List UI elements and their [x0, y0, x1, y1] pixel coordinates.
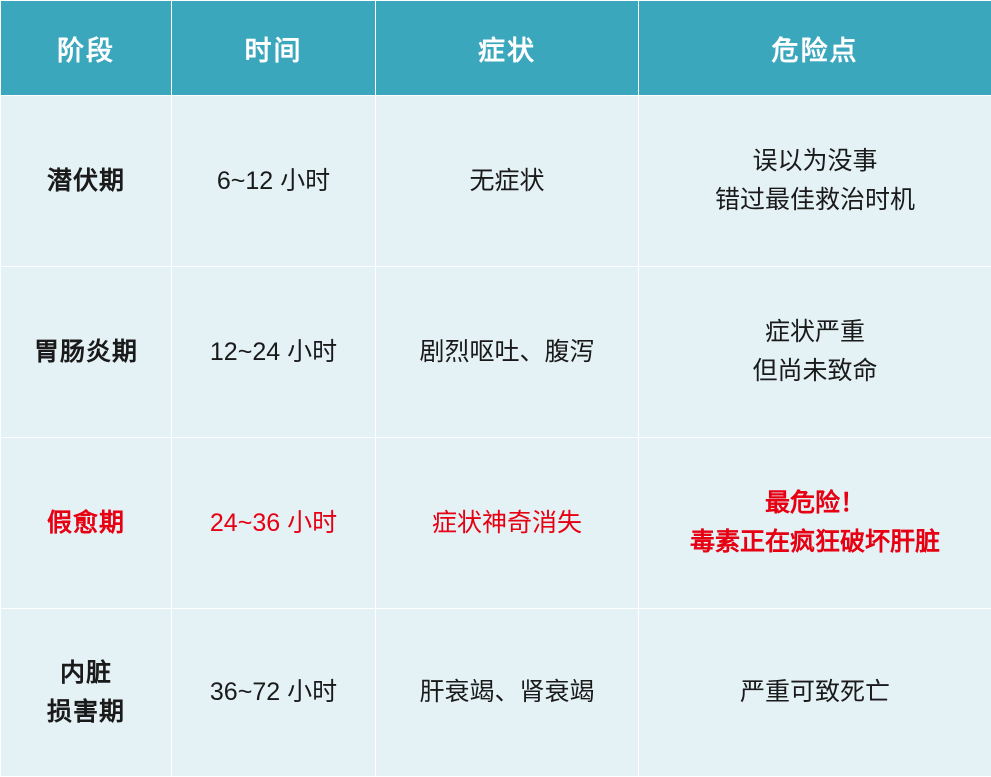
cell-time: 36~72 小时 — [172, 609, 376, 777]
table-body: 潜伏期 6~12 小时 无症状 误以为没事 错过最佳救治时机 胃肠炎期 12~2… — [1, 96, 991, 777]
cell-risk: 症状严重 但尚未致命 — [639, 267, 991, 438]
risk-line: 但尚未致命 — [645, 352, 985, 391]
cell-time: 12~24 小时 — [172, 267, 376, 438]
risk-line: 误以为没事 — [645, 142, 985, 181]
risk-line: 症状严重 — [645, 313, 985, 352]
cell-symptom: 剧烈呕吐、腹泻 — [376, 267, 639, 438]
table-header: 阶段 时间 症状 危险点 — [1, 1, 991, 96]
risk-line: 错过最佳救治时机 — [645, 181, 985, 220]
cell-risk: 最危险！ 毒素正在疯狂破坏肝脏 — [639, 438, 991, 609]
stage-line: 假愈期 — [7, 504, 165, 543]
table-row: 内脏 损害期 36~72 小时 肝衰竭、肾衰竭 严重可致死亡 — [1, 609, 991, 777]
cell-symptom: 无症状 — [376, 96, 639, 267]
stage-line: 胃肠炎期 — [7, 333, 165, 372]
table-row: 胃肠炎期 12~24 小时 剧烈呕吐、腹泻 症状严重 但尚未致命 — [1, 267, 991, 438]
cell-risk: 误以为没事 错过最佳救治时机 — [639, 96, 991, 267]
column-header-symptom: 症状 — [376, 1, 639, 96]
risk-line: 严重可致死亡 — [645, 673, 985, 712]
stage-table-container: 阶段 时间 症状 危险点 潜伏期 6~12 小时 无症状 误以为没事 错过最佳救… — [0, 0, 991, 724]
cell-symptom: 症状神奇消失 — [376, 438, 639, 609]
column-header-time: 时间 — [172, 1, 376, 96]
cell-stage: 潜伏期 — [1, 96, 172, 267]
disease-stage-table: 阶段 时间 症状 危险点 潜伏期 6~12 小时 无症状 误以为没事 错过最佳救… — [0, 0, 991, 777]
cell-time: 6~12 小时 — [172, 96, 376, 267]
cell-stage: 胃肠炎期 — [1, 267, 172, 438]
table-row: 潜伏期 6~12 小时 无症状 误以为没事 错过最佳救治时机 — [1, 96, 991, 267]
cell-time: 24~36 小时 — [172, 438, 376, 609]
cell-stage: 假愈期 — [1, 438, 172, 609]
risk-line: 毒素正在疯狂破坏肝脏 — [645, 523, 985, 562]
header-row: 阶段 时间 症状 危险点 — [1, 1, 991, 96]
table-row: 假愈期 24~36 小时 症状神奇消失 最危险！ 毒素正在疯狂破坏肝脏 — [1, 438, 991, 609]
stage-line: 潜伏期 — [7, 162, 165, 201]
column-header-stage: 阶段 — [1, 1, 172, 96]
stage-line: 损害期 — [7, 693, 165, 732]
cell-stage: 内脏 损害期 — [1, 609, 172, 777]
cell-risk: 严重可致死亡 — [639, 609, 991, 777]
cell-symptom: 肝衰竭、肾衰竭 — [376, 609, 639, 777]
column-header-risk: 危险点 — [639, 1, 991, 96]
stage-line: 内脏 — [7, 654, 165, 693]
risk-line: 最危险！ — [645, 484, 985, 523]
